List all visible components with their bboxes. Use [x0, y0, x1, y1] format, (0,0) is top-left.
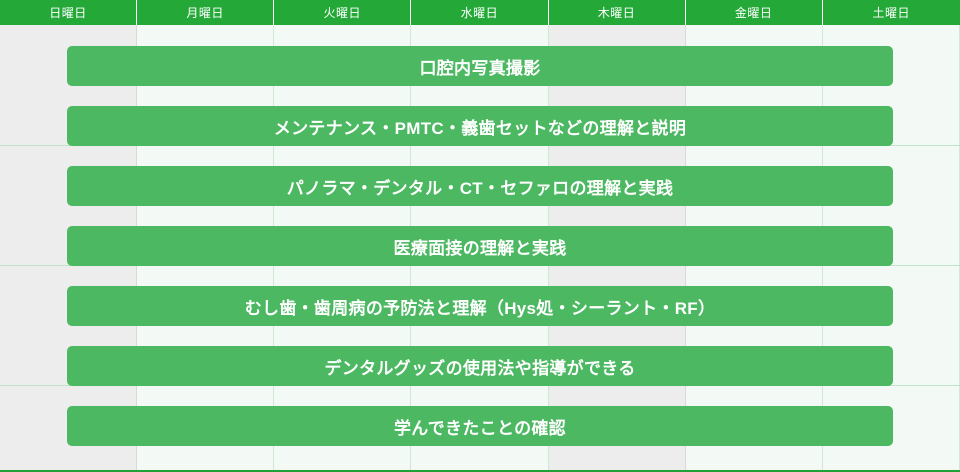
weekday-header-tuesday[interactable]: 火曜日 — [274, 0, 411, 25]
calendar-event-bar[interactable]: 医療面接の理解と実践 — [67, 226, 893, 266]
calendar-weekday-header: 日曜日月曜日火曜日水曜日木曜日金曜日土曜日 — [0, 0, 960, 25]
weekday-header-friday[interactable]: 金曜日 — [686, 0, 823, 25]
calendar-event-bar[interactable]: むし歯・歯周病の予防法と理解（Hys処・シーラント・RF） — [67, 286, 893, 326]
weekday-header-saturday[interactable]: 土曜日 — [823, 0, 960, 25]
weekday-header-thursday[interactable]: 木曜日 — [549, 0, 686, 25]
weekday-header-sunday[interactable]: 日曜日 — [0, 0, 137, 25]
weekday-header-wednesday[interactable]: 水曜日 — [411, 0, 548, 25]
calendar-event-bar[interactable]: デンタルグッズの使用法や指導ができる — [67, 346, 893, 386]
calendar-event-bar[interactable]: 口腔内写真撮影 — [67, 46, 893, 86]
calendar-events-layer: 口腔内写真撮影メンテナンス・PMTC・義歯セットなどの理解と説明パノラマ・デンタ… — [0, 25, 960, 470]
calendar-event-bar[interactable]: メンテナンス・PMTC・義歯セットなどの理解と説明 — [67, 106, 893, 146]
calendar-event-bar[interactable]: パノラマ・デンタル・CT・セファロの理解と実践 — [67, 166, 893, 206]
calendar-week-view: 日曜日月曜日火曜日水曜日木曜日金曜日土曜日 口腔内写真撮影メンテナンス・PMTC… — [0, 0, 960, 472]
calendar-event-bar[interactable]: 学んできたことの確認 — [67, 406, 893, 446]
weekday-header-monday[interactable]: 月曜日 — [137, 0, 274, 25]
